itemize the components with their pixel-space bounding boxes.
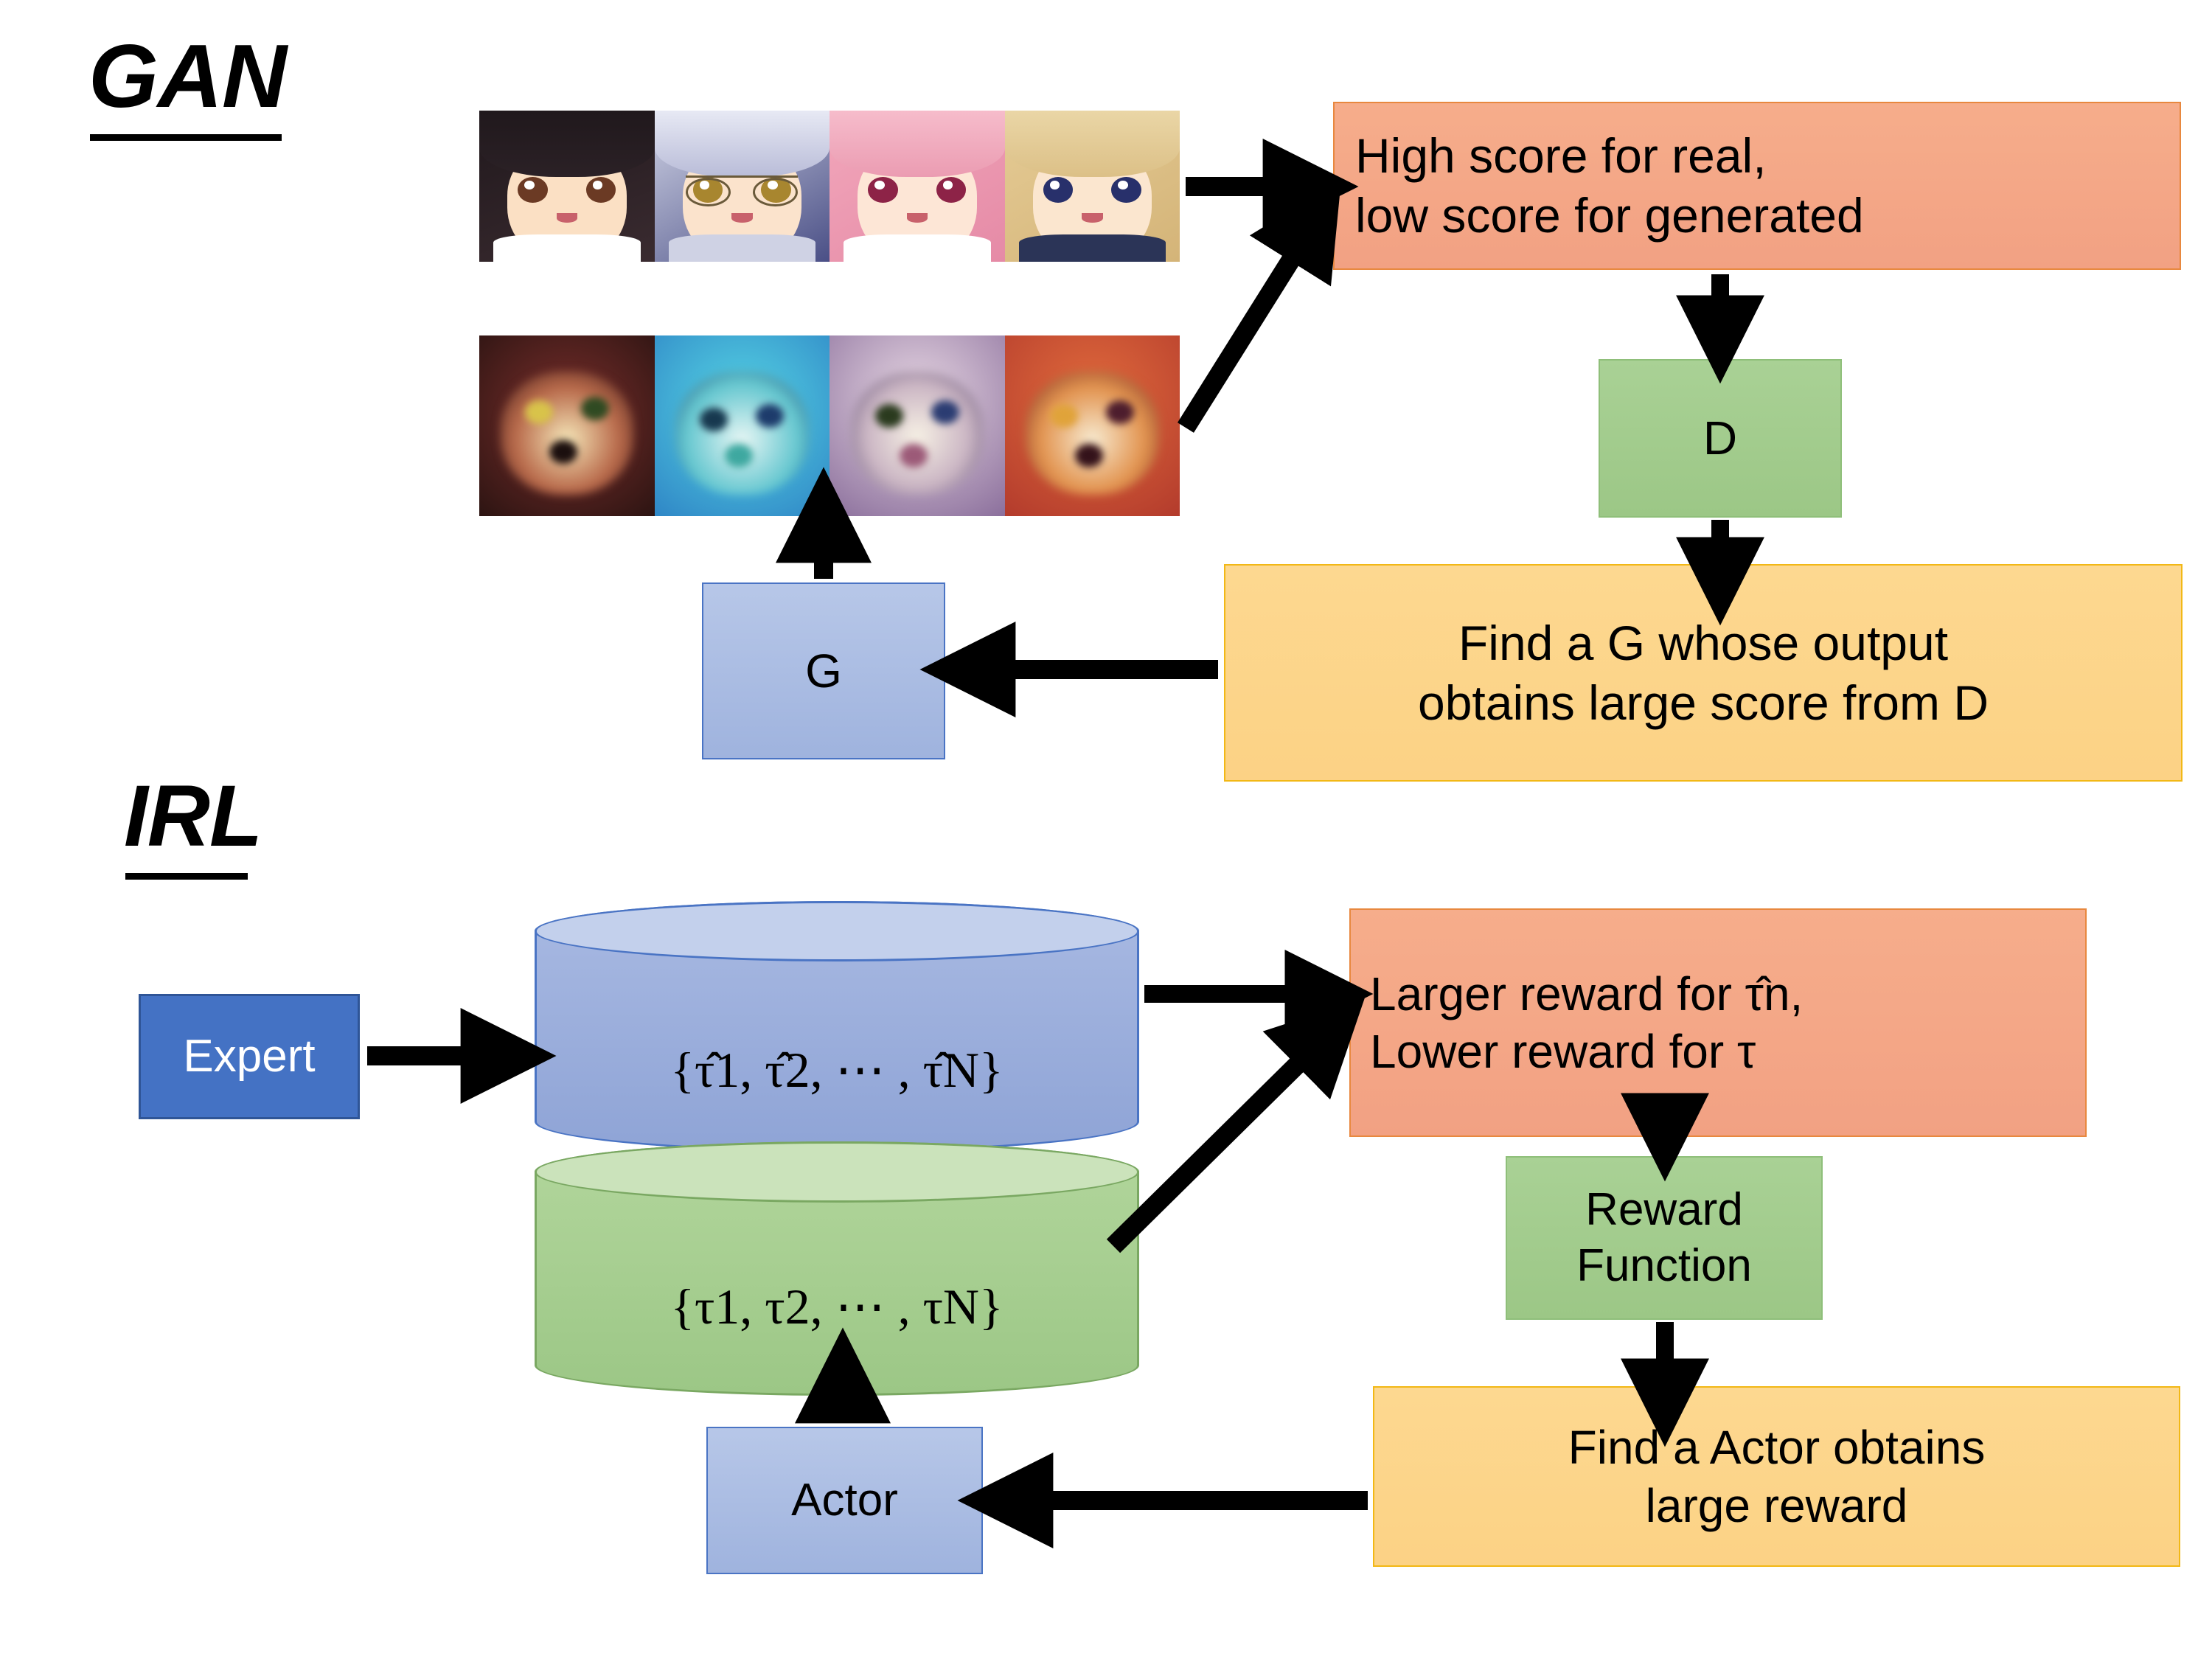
irl-reward-objective-box: Larger reward for τ̂n, Lower reward for … <box>1349 908 2087 1137</box>
gan-discriminator-box: D <box>1599 359 1842 518</box>
irl-expert-trajectory-cylinder: {τ̂1, τ̂2, ⋯ , τ̂N} <box>535 901 1139 1152</box>
gan-title-underline <box>90 134 282 141</box>
generated-face-2 <box>655 335 830 516</box>
real-images-strip <box>479 111 1180 262</box>
real-face-1 <box>479 111 655 262</box>
gan-section-title: GAN <box>88 31 286 121</box>
generated-images-strip <box>479 335 1180 516</box>
arrow-actor-trajectories-to-reward-objective <box>1113 1026 1336 1246</box>
irl-reward-objective-text: Larger reward for τ̂n, Lower reward for … <box>1370 965 1803 1080</box>
irl-actor-label: Actor <box>791 1472 898 1528</box>
gan-generator-label: G <box>805 642 842 700</box>
generated-face-3 <box>829 335 1005 516</box>
real-face-3 <box>829 111 1005 262</box>
gan-generator-box: G <box>702 582 945 759</box>
irl-reward-function-label: Reward Function <box>1576 1182 1752 1293</box>
glasses-icon <box>686 175 798 206</box>
gan-title-text: GAN <box>88 26 286 126</box>
irl-expert-trajectory-label: {τ̂1, τ̂2, ⋯ , τ̂N} <box>535 1041 1139 1099</box>
irl-expert-box: Expert <box>139 994 360 1119</box>
irl-section-title: IRL <box>124 773 262 860</box>
real-face-2 <box>655 111 830 262</box>
generated-face-4 <box>1005 335 1180 516</box>
irl-actor-trajectory-label: {τ1, τ2, ⋯ , τN} <box>535 1278 1139 1336</box>
gan-discriminator-objective-text: High score for real, low score for gener… <box>1355 126 1864 245</box>
cylinder-top <box>535 901 1139 961</box>
generated-face-1 <box>479 335 655 516</box>
irl-actor-objective-text: Find a Actor obtains large reward <box>1568 1419 1986 1534</box>
irl-reward-function-box: Reward Function <box>1506 1156 1823 1320</box>
gan-discriminator-objective-box: High score for real, low score for gener… <box>1333 102 2181 270</box>
diagram-canvas: GAN <box>0 0 2212 1659</box>
irl-actor-objective-box: Find a Actor obtains large reward <box>1373 1386 2180 1567</box>
irl-title-underline <box>125 873 248 880</box>
cylinder-top <box>535 1141 1139 1203</box>
irl-actor-box: Actor <box>706 1427 983 1574</box>
irl-actor-trajectory-cylinder: {τ1, τ2, ⋯ , τN} <box>535 1141 1139 1396</box>
real-face-4 <box>1005 111 1180 262</box>
arrow-generated-to-discriminator-objective <box>1186 214 1320 428</box>
gan-generator-objective-text: Find a G whose output obtains large scor… <box>1418 613 1989 732</box>
irl-expert-label: Expert <box>183 1029 315 1085</box>
irl-title-text: IRL <box>124 768 262 865</box>
gan-discriminator-label: D <box>1703 409 1737 467</box>
gan-generator-objective-box: Find a G whose output obtains large scor… <box>1224 564 2183 782</box>
